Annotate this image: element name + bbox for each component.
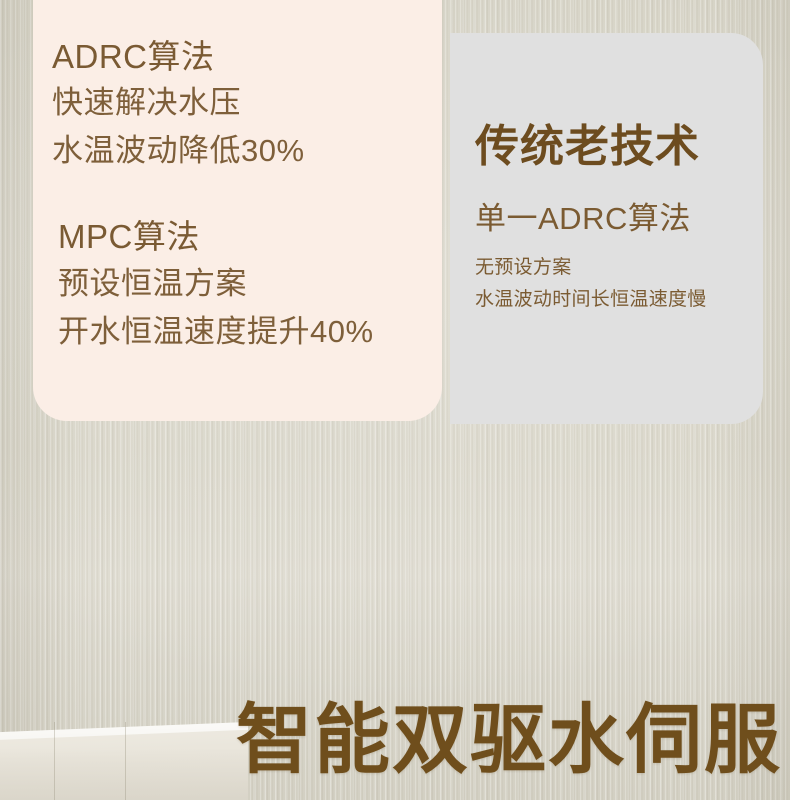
- adrc-block-line-1: 快速解决水压: [52, 87, 241, 118]
- old-technology-heading: 传统老技术: [475, 125, 700, 169]
- old-technology-note-2: 水温波动时间长恒温速度慢: [475, 290, 707, 309]
- mpc-block-line-2: 开水恒温速度提升40%: [58, 316, 374, 347]
- mpc-block-title: MPC算法: [58, 220, 200, 253]
- cabinet-body-shading: [0, 748, 248, 800]
- old-technology-subheading: 单一ADRC算法: [475, 203, 691, 234]
- new-technology-card: 开水恒温速度提升40% ADRC算法 快速解决水压 水温波动降低30% MPC算…: [33, 0, 442, 421]
- adrc-block-title: ADRC算法: [52, 40, 215, 73]
- page-root: 开水恒温速度提升40% ADRC算法 快速解决水压 水温波动降低30% MPC算…: [0, 0, 790, 800]
- adrc-block-line-2: 水温波动降低30%: [52, 135, 305, 166]
- kitchen-cabinet-silhouette: [0, 722, 248, 800]
- cabinet-door-seam: [54, 722, 55, 800]
- mpc-block-line-1: 预设恒温方案: [58, 268, 247, 299]
- cabinet-door-seam: [125, 722, 126, 800]
- old-technology-note-1: 无预设方案: [475, 258, 572, 277]
- old-technology-card: 传统老技术 单一ADRC算法 无预设方案 水温波动时间长恒温速度慢: [450, 33, 763, 424]
- page-headline: 智能双驱水伺服: [236, 703, 782, 779]
